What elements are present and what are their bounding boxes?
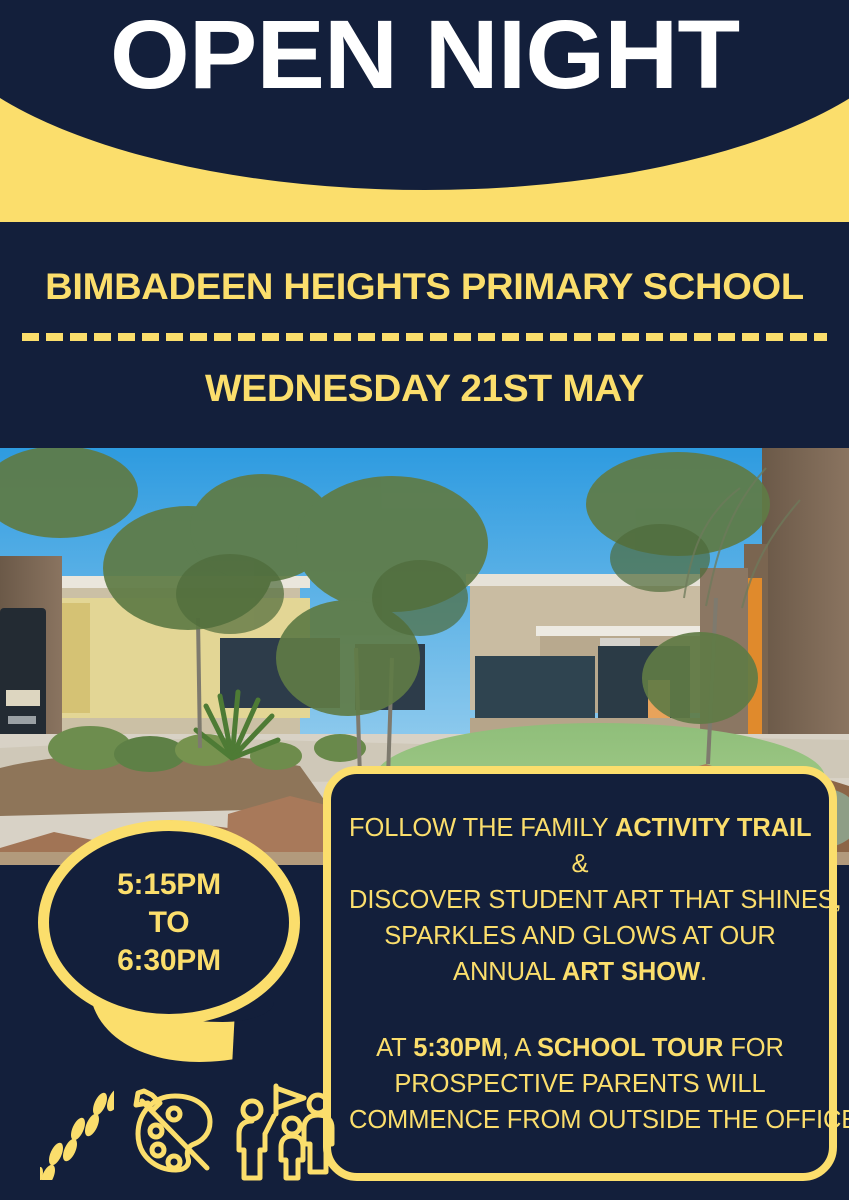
time-end: 6:30PM [38, 942, 300, 980]
art-palette-icon [128, 1084, 220, 1185]
details-line-prospective: PROSPECTIVE PARENTS WILL [349, 1066, 811, 1102]
details-line-commence: COMMENCE FROM OUTSIDE THE OFFICE. [349, 1102, 811, 1138]
event-details-box: FOLLOW THE FAMILY ACTIVITY TRAIL & DISCO… [323, 766, 837, 1181]
details-line-shines: DISCOVER STUDENT ART THAT SHINES, [349, 882, 811, 918]
poster-header: OPEN NIGHT [0, 0, 849, 228]
details-line6-d: SCHOOL TOUR [537, 1034, 723, 1062]
feature-icon-row [40, 1078, 340, 1190]
details-line-ampersand: & [349, 846, 811, 882]
time-bubble-text: 5:15PM TO 6:30PM [38, 866, 300, 980]
time-separator: TO [38, 904, 300, 942]
time-speech-bubble: 5:15PM TO 6:30PM [38, 820, 308, 1070]
details-line6-b: 5:30PM [413, 1034, 502, 1062]
details-line-activity-trail: FOLLOW THE FAMILY ACTIVITY TRAIL [349, 810, 811, 846]
details-line6-e: FOR [723, 1034, 784, 1062]
details-line5-b: ART SHOW [562, 958, 700, 986]
details-line-school-tour: AT 5:30PM, A SCHOOL TOUR FOR [349, 1030, 811, 1066]
footprints-trail-icon [40, 1084, 114, 1185]
time-start: 5:15PM [38, 866, 300, 904]
details-line-sparkles: SPARKLES AND GLOWS AT OUR [349, 918, 811, 954]
details-line5-a: ANNUAL [453, 958, 562, 986]
tour-group-icon [234, 1082, 346, 1187]
details-spacer [349, 990, 811, 1030]
dashed-divider [22, 333, 827, 341]
page-title: OPEN NIGHT [0, 5, 849, 105]
event-info-bar: BIMBADEEN HEIGHTS PRIMARY SCHOOL WEDNESD… [0, 228, 849, 448]
school-name: BIMBADEEN HEIGHTS PRIMARY SCHOOL [0, 266, 849, 308]
open-night-poster: OPEN NIGHT BIMBADEEN HEIGHTS PRIMARY SCH… [0, 0, 849, 1200]
details-line6-c: , A [502, 1034, 537, 1062]
details-line1-a: FOLLOW THE FAMILY [349, 814, 615, 842]
details-line5-c: . [700, 958, 707, 986]
details-line6-a: AT [376, 1034, 413, 1062]
event-date: WEDNESDAY 21ST MAY [0, 368, 849, 411]
details-line-art-show: ANNUAL ART SHOW. [349, 954, 811, 990]
details-line1-b: ACTIVITY TRAIL [615, 814, 811, 842]
